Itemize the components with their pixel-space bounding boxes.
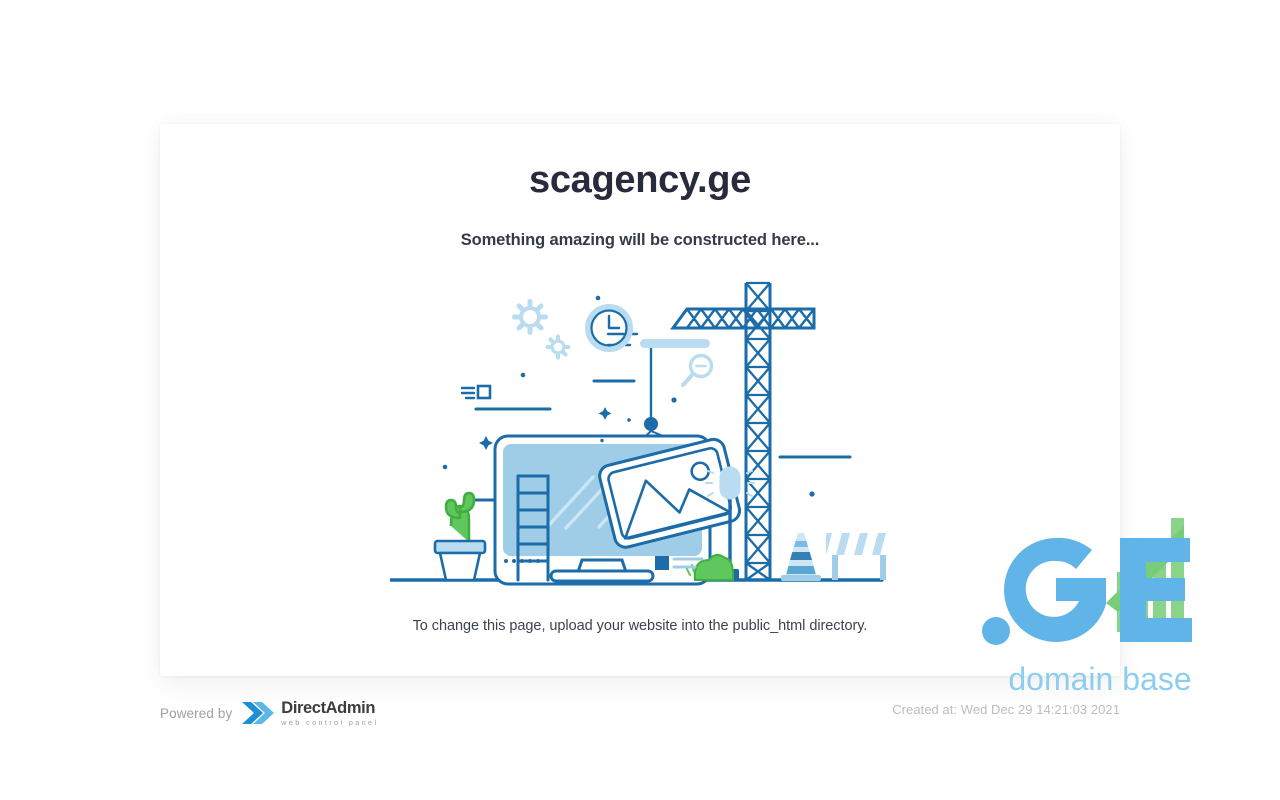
pot-body bbox=[440, 553, 480, 580]
upload-hint-text: To change this page, upload your website… bbox=[160, 618, 1120, 634]
directadmin-wordmark: DirectAdmin web control panel bbox=[281, 700, 378, 727]
magnifier-icon bbox=[683, 356, 712, 386]
illustration-svg bbox=[390, 271, 890, 591]
directadmin-tagline: web control panel bbox=[281, 719, 378, 726]
crane-counterweight bbox=[640, 339, 710, 348]
created-at-text: Created at: Wed Dec 29 14:21:03 2021 bbox=[892, 702, 1120, 717]
traffic-cone bbox=[781, 533, 821, 581]
card-content: scagency.ge Something amazing will be co… bbox=[160, 124, 1120, 676]
lamp-head bbox=[720, 467, 740, 499]
powered-by-block: Powered by DirectAdmin web control panel bbox=[160, 700, 378, 727]
page-root: scagency.ge Something amazing will be co… bbox=[0, 0, 1280, 800]
tagline-text: Something amazing will be constructed he… bbox=[160, 231, 1120, 250]
monitor-base bbox=[551, 571, 653, 581]
crane-hook bbox=[644, 417, 658, 431]
construction-card: scagency.ge Something amazing will be co… bbox=[160, 124, 1120, 676]
page-title: scagency.ge bbox=[160, 158, 1120, 204]
page-footer: Powered by DirectAdmin web control panel… bbox=[160, 694, 1120, 726]
clock-icon bbox=[588, 307, 630, 349]
barricade bbox=[826, 533, 890, 580]
gears-icon bbox=[515, 302, 569, 358]
list-icon bbox=[462, 386, 490, 398]
cactus-plant bbox=[435, 493, 485, 580]
double-chevron-icon bbox=[241, 700, 275, 726]
crane-jib bbox=[673, 309, 814, 328]
pot-rim bbox=[435, 541, 485, 553]
directadmin-logo[interactable]: DirectAdmin web control panel bbox=[241, 700, 378, 727]
directadmin-name: DirectAdmin bbox=[281, 700, 378, 717]
under-construction-illustration bbox=[390, 271, 890, 591]
powered-by-label: Powered by bbox=[160, 706, 232, 721]
